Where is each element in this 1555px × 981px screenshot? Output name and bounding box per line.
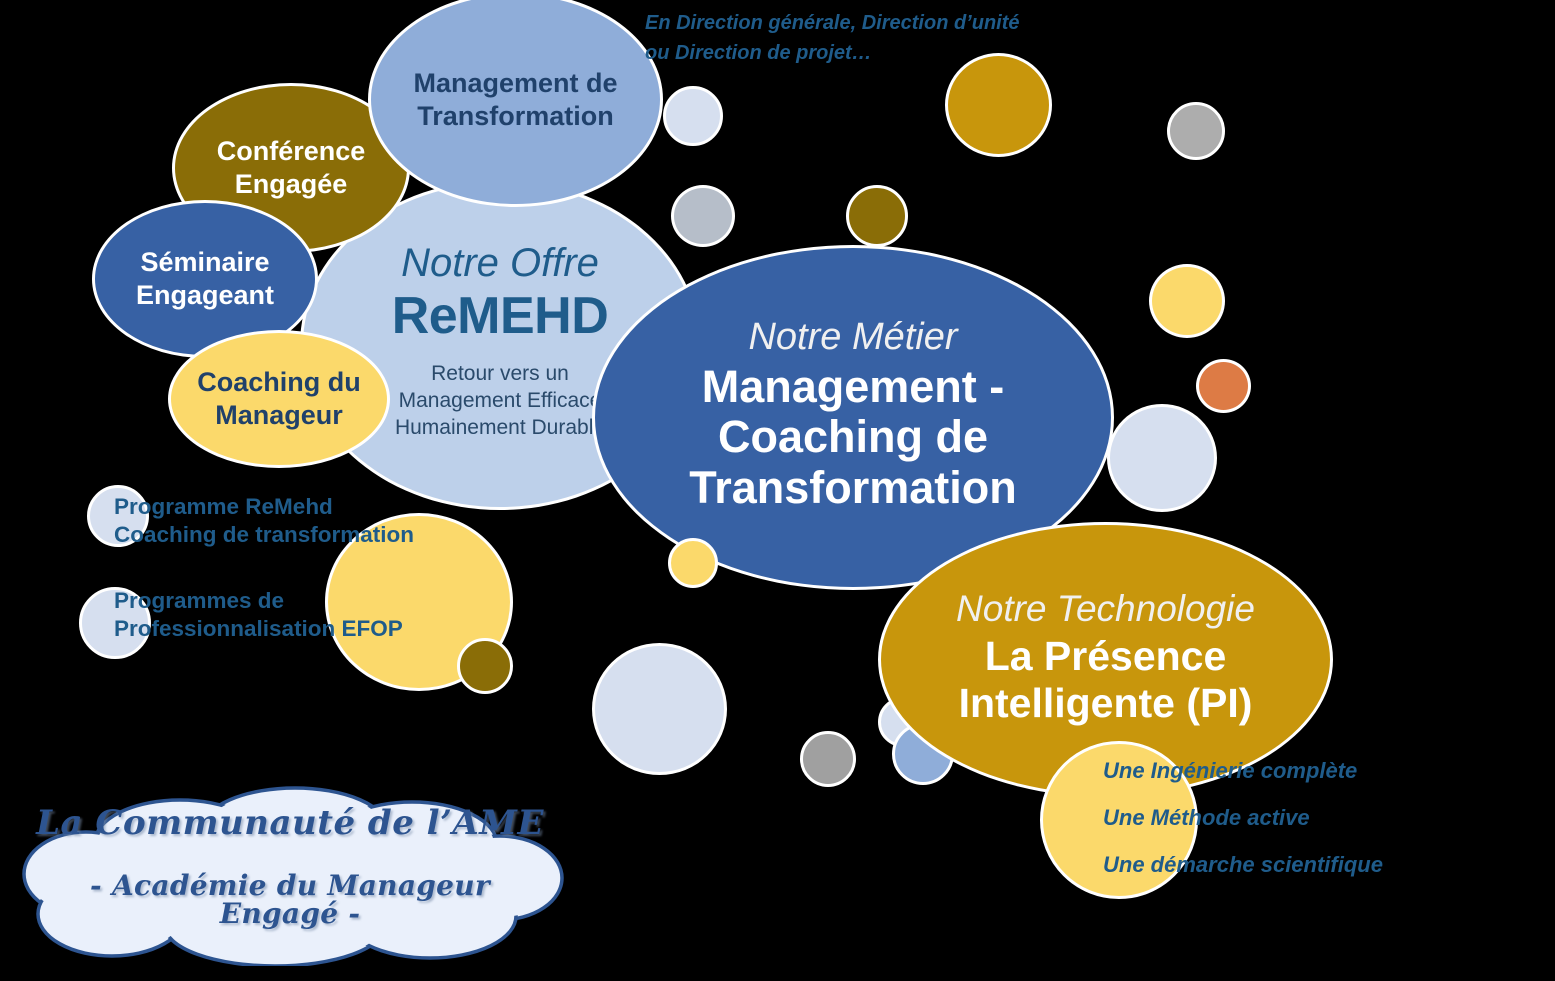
satellite-seminaire-line1: Séminaire [140,246,269,279]
satellite-management-line1: Management de [413,67,617,100]
offer-subtitle-line1: Retour vers un [395,361,605,388]
decorative-circle-grey-mid [671,185,735,247]
decorative-circle-yellow-right [1149,264,1225,338]
satellite-management-de-transformation[interactable]: Management de Transformation [368,0,663,207]
program-label-efop-line2: Professionnalisation EFOP [114,615,514,643]
offer-subtitle: Retour vers un Management Efficace Humai… [395,361,605,442]
business-title-line2: Coaching de [689,412,1017,462]
business-title-line1: Management - [689,362,1017,412]
satellite-conference-line2: Engagée [235,168,348,201]
program-label-efop: Programmes de Professionnalisation EFOP [114,587,514,644]
business-title: Management - Coaching de Transformation [689,362,1017,513]
decorative-circle-pale-top [663,86,723,146]
technology-point-1: Une Ingénierie complète [1103,760,1523,782]
direction-note-line2: ou Direction de projet… [645,38,1105,68]
satellite-coaching-line1: Coaching du [197,366,361,399]
direction-note-line1: En Direction générale, Direction d’unité [645,8,1105,38]
community-cloud-shape[interactable] [20,786,565,966]
satellite-coaching-du-manageur[interactable]: Coaching du Manageur [168,330,390,468]
technology-title-line1: La Présence [959,633,1253,680]
decorative-circle-olive-top [846,185,908,247]
technology-point-3: Une démarche scientifique [1103,854,1523,876]
decorative-circle-olive-small [457,638,513,694]
program-labels: Programme ReMehd Coaching de transformat… [114,493,514,643]
satellite-seminaire-line2: Engageant [136,279,274,312]
decorative-circle-pale-right [1107,404,1217,512]
decorative-circle-pale-bottom [592,643,727,775]
satellite-conference-line1: Conférence [217,135,366,168]
decorative-circle-orange [1196,359,1251,413]
decorative-circle-gold-large [945,53,1052,157]
offer-kicker: Notre Offre [401,242,599,284]
direction-note: En Direction générale, Direction d’unité… [645,8,1105,68]
decorative-circle-yellow-small [668,538,718,588]
offer-subtitle-line2: Management Efficace [395,388,605,415]
business-kicker: Notre Métier [748,318,957,358]
program-label-remehd-line1: Programme ReMehd [114,493,514,521]
technology-points: Une Ingénierie complète Une Méthode acti… [1103,760,1523,901]
program-label-remehd-line2: Coaching de transformation [114,521,514,549]
technology-title-line2: Intelligente (PI) [959,680,1253,727]
satellite-management-line2: Transformation [417,100,614,133]
satellite-coaching-line2: Manageur [215,399,343,432]
decorative-circle-grey-small [1167,102,1225,160]
program-label-efop-line1: Programmes de [114,587,514,615]
technology-point-2: Une Méthode active [1103,807,1523,829]
offer-title: ReMEHD [392,288,609,345]
diagram-canvas: Notre Offre ReMEHD Retour vers un Manage… [0,0,1555,981]
business-title-line3: Transformation [689,463,1017,513]
technology-title: La Présence Intelligente (PI) [959,633,1253,726]
decorative-circle-grey-bottom [800,731,856,787]
program-label-remehd: Programme ReMehd Coaching de transformat… [114,493,514,550]
offer-subtitle-line3: Humainement Durable [395,415,605,442]
technology-kicker: Notre Technologie [956,590,1255,629]
